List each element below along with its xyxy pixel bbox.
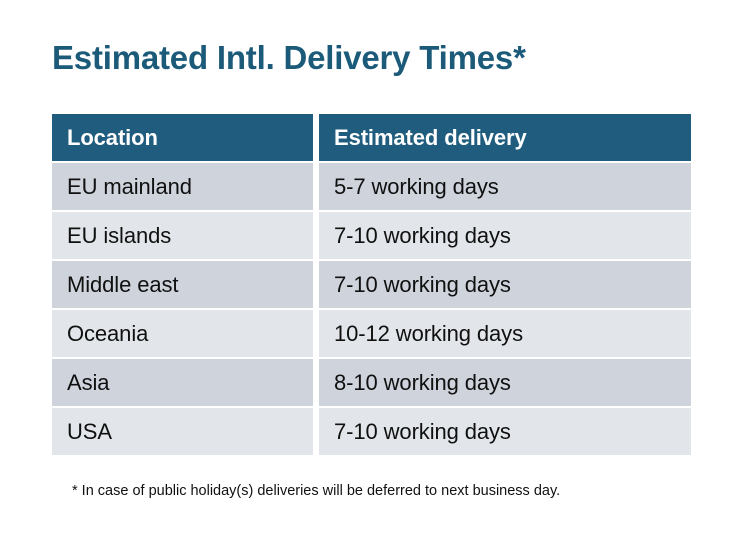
table-header-row: Location Estimated delivery [52, 114, 691, 161]
cell-estimated-delivery: 10-12 working days [319, 310, 691, 357]
cell-estimated-delivery: 7-10 working days [319, 408, 691, 455]
cell-estimated-delivery: 8-10 working days [319, 359, 691, 406]
cell-location: Oceania [52, 310, 313, 357]
table-row: EU islands 7-10 working days [52, 212, 691, 259]
table-row: Asia 8-10 working days [52, 359, 691, 406]
cell-location: Middle east [52, 261, 313, 308]
cell-location: Asia [52, 359, 313, 406]
cell-estimated-delivery: 7-10 working days [319, 261, 691, 308]
delivery-times-page: Estimated Intl. Delivery Times* Location… [0, 0, 745, 536]
table-row: EU mainland 5-7 working days [52, 163, 691, 210]
table-row: Oceania 10-12 working days [52, 310, 691, 357]
footnote: * In case of public holiday(s) deliverie… [72, 481, 560, 501]
column-header-location: Location [52, 114, 313, 161]
table-row: Middle east 7-10 working days [52, 261, 691, 308]
table-row: USA 7-10 working days [52, 408, 691, 455]
cell-estimated-delivery: 7-10 working days [319, 212, 691, 259]
cell-location: EU islands [52, 212, 313, 259]
cell-estimated-delivery: 5-7 working days [319, 163, 691, 210]
cell-location: USA [52, 408, 313, 455]
column-header-estimated-delivery: Estimated delivery [319, 114, 691, 161]
page-title: Estimated Intl. Delivery Times* [52, 36, 526, 80]
cell-location: EU mainland [52, 163, 313, 210]
delivery-times-table: Location Estimated delivery EU mainland … [52, 114, 691, 455]
